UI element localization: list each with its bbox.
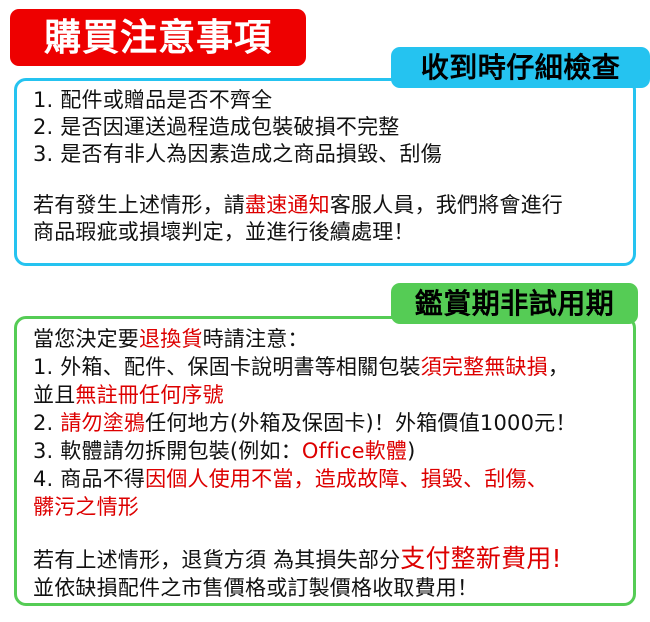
return-intro-a: 當您決定要	[33, 327, 139, 351]
return-item-2: 2. 請勿塗鴉任何地方(外箱及保固卡)！外箱價值1000元！	[33, 409, 623, 437]
section-tag-inspect-label: 收到時仔細檢查	[421, 54, 621, 82]
return-item-3-a: 3. 軟體請勿拆開包裝(例如：	[33, 439, 302, 463]
page-title-banner: 購買注意事項	[10, 9, 306, 66]
notice-page: 購買注意事項 收到時仔細檢查 1. 配件或贈品是否不齊全 2. 是否因運送過程造…	[0, 0, 650, 622]
return-spacer	[33, 521, 623, 545]
return-intro-line: 當您決定要退換貨時請注意：	[33, 325, 623, 353]
page-title: 購買注意事項	[44, 19, 272, 56]
section-tag-return-label: 鑑賞期非試用期	[415, 290, 615, 318]
return-item-1-a: 1. 外箱、配件、保固卡說明書等相關包裝	[33, 355, 421, 379]
inspect-note-part-b: 客服人員，我們將會進行	[330, 193, 563, 217]
inspect-notice-body: 1. 配件或贈品是否不齊全 2. 是否因運送過程造成包裝破損不完整 3. 是否有…	[33, 87, 623, 246]
return-intro-highlight: 退換貨	[139, 327, 203, 351]
inspect-note-line-1: 若有發生上述情形，請盡速通知客服人員，我們將會進行	[33, 192, 623, 219]
return-footer-line-1: 若有上述情形，退貨方須 為其損失部分支付整新費用!	[33, 545, 623, 574]
return-item-1-line-1: 1. 外箱、配件、保固卡說明書等相關包裝須完整無缺損，	[33, 353, 623, 381]
inspect-notice-box: 1. 配件或贈品是否不齊全 2. 是否因運送過程造成包裝破損不完整 3. 是否有…	[14, 78, 636, 266]
return-item-4-line-2: 髒污之情形	[33, 493, 623, 521]
return-item-4-line-1: 4. 商品不得因個人使用不當，造成故障、損毀、刮傷、	[33, 465, 623, 493]
return-item-3-b: )	[407, 439, 415, 463]
return-footer-line-2: 並依缺損配件之市售價格或訂製價格收取費用！	[33, 574, 623, 602]
section-tag-inspect: 收到時仔細檢查	[391, 47, 650, 88]
return-item-4-highlight-2: 髒污之情形	[33, 495, 139, 519]
return-item-3: 3. 軟體請勿拆開包裝(例如：Office軟體)	[33, 437, 623, 465]
inspect-note-part-a: 若有發生上述情形，請	[33, 193, 245, 217]
return-item-3-highlight: Office軟體	[302, 439, 407, 463]
inspect-note-line-2: 商品瑕疵或損壞判定，並進行後續處理！	[33, 219, 623, 246]
return-item-2-highlight: 請勿塗鴉	[60, 411, 145, 435]
return-item-2-rest: 任何地方(外箱及保固卡)！外箱價值1000元！	[145, 411, 576, 435]
return-item-1-highlight-2: 無註冊任何序號	[75, 383, 223, 407]
return-item-2-num: 2.	[33, 411, 60, 435]
return-footer-a: 若有上述情形，退貨方須 為其損失部分	[33, 548, 400, 572]
return-footer-highlight: 支付整新費用!	[400, 544, 561, 573]
inspect-note-highlight: 盡速通知	[245, 193, 330, 217]
return-item-4-highlight-1: 因個人使用不當，造成故障、損毀、刮傷、	[145, 467, 548, 491]
return-item-1-highlight-1: 須完整無缺損	[421, 355, 548, 379]
return-item-4-a: 4. 商品不得	[33, 467, 145, 491]
inspect-item-1: 1. 配件或贈品是否不齊全	[33, 87, 623, 114]
return-intro-b: 時請注意：	[203, 327, 309, 351]
return-policy-body: 當您決定要退換貨時請注意： 1. 外箱、配件、保固卡說明書等相關包裝須完整無缺損…	[33, 325, 623, 602]
return-item-1-line-2: 並且無註冊任何序號	[33, 381, 623, 409]
inspect-spacer	[33, 168, 623, 192]
return-item-1-b: ，	[548, 355, 569, 379]
return-policy-box: 當您決定要退換貨時請注意： 1. 外箱、配件、保固卡說明書等相關包裝須完整無缺損…	[14, 316, 636, 606]
inspect-item-2: 2. 是否因運送過程造成包裝破損不完整	[33, 114, 623, 141]
inspect-item-3: 3. 是否有非人為因素造成之商品損毀、刮傷	[33, 141, 623, 168]
section-tag-return: 鑑賞期非試用期	[391, 283, 638, 324]
return-item-1-c: 並且	[33, 383, 75, 407]
